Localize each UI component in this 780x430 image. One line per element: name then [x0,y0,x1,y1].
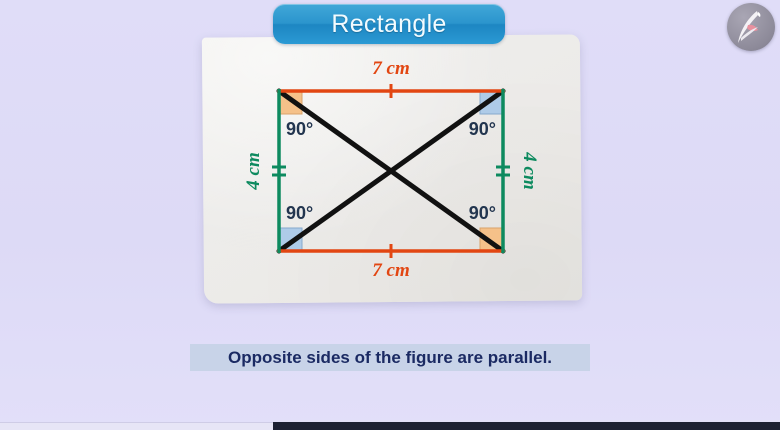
label-angle-bottom-left: 90° [286,203,313,223]
lesson-slide: Rectangle 7 cm 7 cm 4 cm 4 cm 90° 90° 90… [0,0,780,430]
label-angle-top-right: 90° [469,119,496,139]
label-top-length: 7 cm [372,58,409,79]
label-left-length: 4 cm [243,152,264,190]
video-progress-played [0,422,273,430]
channel-logo-icon[interactable] [727,3,775,51]
video-progress-bar[interactable] [0,422,780,430]
label-angle-top-left: 90° [286,119,313,139]
label-bottom-length: 7 cm [372,260,409,281]
caption-text: Opposite sides of the figure are paralle… [228,348,552,368]
caption-highlight-band: Opposite sides of the figure are paralle… [190,344,590,371]
label-angle-bottom-right: 90° [469,203,496,223]
label-right-length: 4 cm [519,151,540,189]
